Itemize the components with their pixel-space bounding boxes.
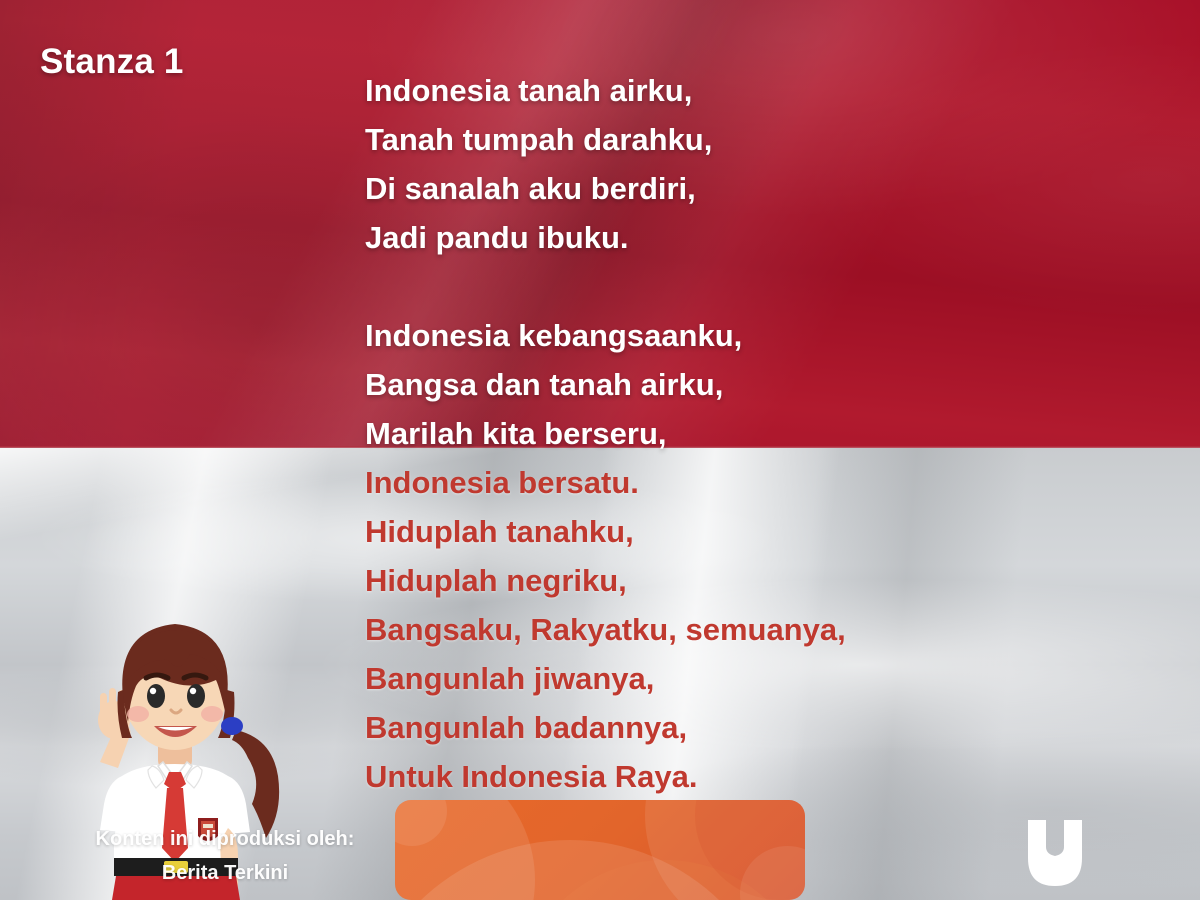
- orange-banner[interactable]: [395, 800, 805, 900]
- watermark-line-2: Berita Terkini: [60, 856, 390, 890]
- lyric-line: Jadi pandu ibuku.: [365, 213, 1065, 262]
- lyric-line: Marilah kita berseru,: [365, 409, 1065, 458]
- lyric-spacer: [365, 262, 1065, 311]
- lyric-line: Bangunlah badannya,: [365, 703, 1065, 752]
- watermark-line-1: Konten ini diproduksi oleh:: [96, 828, 355, 850]
- lyric-line: Indonesia kebangsaanku,: [365, 311, 1065, 360]
- watermark: Konten ini diproduksi oleh: Berita Terki…: [60, 822, 390, 890]
- page-title: Stanza 1: [40, 42, 184, 82]
- lyric-line: Untuk Indonesia Raya.: [365, 752, 1065, 801]
- lyrics-block: Indonesia tanah airku,Tanah tumpah darah…: [365, 66, 1065, 801]
- lyric-line: Bangunlah jiwanya,: [365, 654, 1065, 703]
- lyric-line: Bangsaku, Rakyatku, semuanya,: [365, 605, 1065, 654]
- u-logo-icon[interactable]: [1024, 818, 1086, 888]
- lyric-line: Hiduplah negriku,: [365, 556, 1065, 605]
- lyric-line: Hiduplah tanahku,: [365, 507, 1065, 556]
- lyric-line: Indonesia tanah airku,: [365, 66, 1065, 115]
- lyric-line: Tanah tumpah darahku,: [365, 115, 1065, 164]
- lyric-line: Indonesia bersatu.: [365, 458, 1065, 507]
- slide-canvas: Stanza 1 Indonesia tanah airku,Tanah tum…: [0, 0, 1200, 900]
- lyric-line: Di sanalah aku berdiri,: [365, 164, 1065, 213]
- lyric-line: Bangsa dan tanah airku,: [365, 360, 1065, 409]
